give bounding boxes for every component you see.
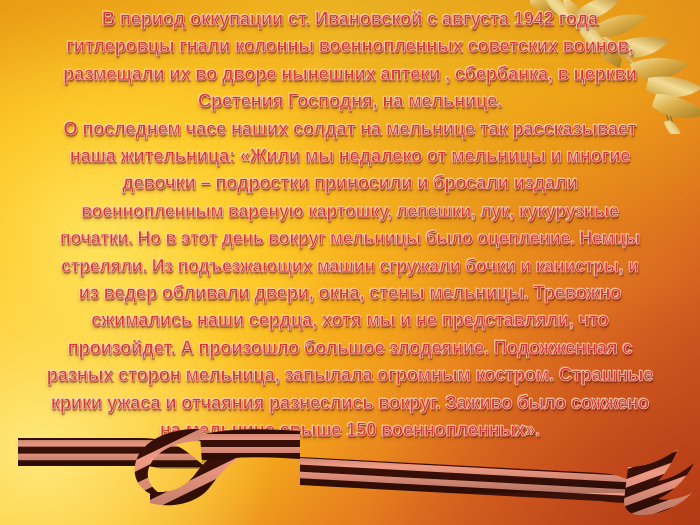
text-line: стреляли. Из подъезжающих машин сгружали… (21, 253, 679, 280)
text-line: из ведер обливали двери, окна, стены мел… (21, 280, 679, 307)
text-line: сжимались наши сердца, хотя мы и не пред… (21, 307, 679, 334)
text-line: початки. Но в этот день вокруг мельницы … (21, 225, 679, 252)
text-line: военнопленным вареную картошку, лепешки,… (21, 198, 679, 225)
text-line: гитлеровцы гнали колонны военнопленных с… (21, 33, 679, 60)
text-line: на мельнице свыше 150 военнопленных». (21, 417, 679, 444)
text-line: Сретения Господня, на мельнице. (21, 88, 679, 115)
text-line: разных сторон мельница, запылала огромны… (21, 362, 679, 389)
text-line: девочки – подростки приносили и бросали … (21, 170, 679, 197)
text-line: размещали их во дворе нынешних аптеки , … (21, 61, 679, 88)
text-line: В период оккупации ст. Ивановской с авгу… (21, 6, 679, 33)
text-line: крики ужаса и отчаяния разнеслись вокруг… (21, 390, 679, 417)
text-line: произойдет. А произошло большое злодеяни… (21, 335, 679, 362)
text-line: О последнем часе наших солдат на мельниц… (21, 116, 679, 143)
text-line: наша жительница: «Жили мы недалеко от ме… (21, 143, 679, 170)
slide-text-block: В период оккупации ст. Ивановской с авгу… (0, 6, 700, 445)
memorial-slide: В период оккупации ст. Ивановской с авгу… (0, 0, 700, 525)
